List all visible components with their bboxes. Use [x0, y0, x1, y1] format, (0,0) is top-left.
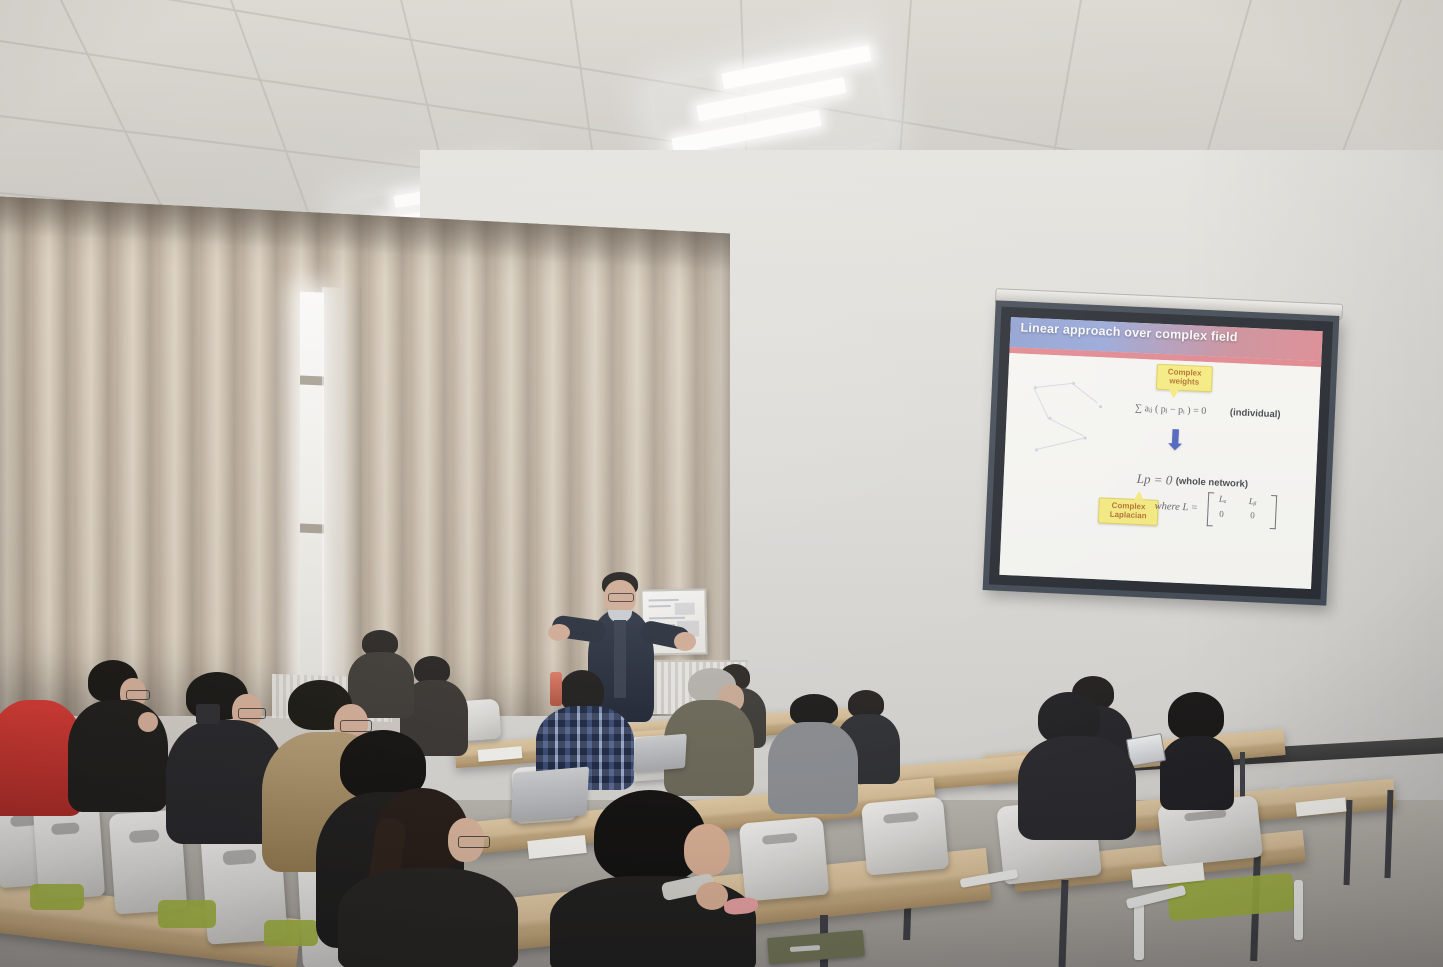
screen-frame: Linear approach over complex field [983, 300, 1340, 605]
callout-complex-weights: Complex weights [1156, 364, 1213, 392]
torso [338, 868, 518, 967]
presenter-right-hand [674, 632, 696, 651]
head [684, 824, 730, 876]
chair-seat-cushion [158, 900, 216, 928]
label-individual: (individual) [1230, 407, 1281, 420]
window-gap [300, 291, 324, 692]
torso [1018, 736, 1136, 840]
equation-network: Lp = 0 [1136, 471, 1172, 489]
chair [861, 797, 949, 876]
hair [1168, 692, 1224, 740]
slide-body: Complex weights ∑ aᵢⱼ ( pⱼ − pᵢ ) = 0 (i… [999, 353, 1321, 589]
chair-seat-cushion [30, 884, 84, 910]
chair-handle-slot [222, 849, 256, 865]
audience-member [1154, 692, 1238, 792]
matrix-cell: Lᵦ [1249, 496, 1257, 506]
audience-member [768, 694, 860, 804]
audience-member [338, 788, 528, 967]
audience-member [550, 790, 760, 967]
laptop[interactable] [633, 734, 687, 773]
matrix-cell: Lₐ [1219, 495, 1227, 505]
callout-complex-laplacian: Complex Laplacian [1098, 497, 1159, 526]
classroom-photo: Linear approach over complex field [0, 0, 1443, 967]
matrix-cell: 0 [1250, 510, 1255, 520]
torso [768, 722, 858, 814]
chair-handle-slot [129, 829, 160, 843]
cup[interactable] [196, 704, 220, 724]
presenter-glasses-icon [608, 593, 634, 602]
network-graph-illustration [1016, 376, 1130, 477]
label-where-l: where L = [1154, 501, 1198, 514]
presentation-slide: Linear approach over complex field [999, 317, 1322, 589]
hand [138, 712, 158, 732]
chair-leg [1134, 900, 1144, 960]
laptop[interactable] [511, 766, 589, 821]
matrix-cell: 0 [1219, 509, 1224, 519]
matrix-right-bracket [1270, 495, 1278, 529]
screen-inner-border: Linear approach over complex field [989, 307, 1333, 600]
matrix-left-bracket [1207, 492, 1215, 526]
water-bottle[interactable] [550, 672, 562, 706]
chair-backrest [861, 797, 949, 876]
chair-handle-slot [51, 822, 79, 835]
glasses-icon [458, 836, 490, 848]
chair-seat-cushion [264, 920, 318, 946]
presenter-left-hand [548, 624, 570, 641]
torso [1160, 736, 1234, 810]
audience-member [1018, 692, 1138, 822]
audience-member [66, 660, 172, 810]
label-whole-network: (whole network) [1175, 476, 1248, 490]
projection-screen: Linear approach over complex field [989, 300, 1341, 600]
glasses-icon [126, 690, 150, 700]
equation-individual: ∑ aᵢⱼ ( pⱼ − pᵢ ) = 0 [1135, 403, 1207, 417]
down-arrow-icon: ⬇ [1163, 426, 1188, 455]
chair-leg [1294, 880, 1303, 940]
